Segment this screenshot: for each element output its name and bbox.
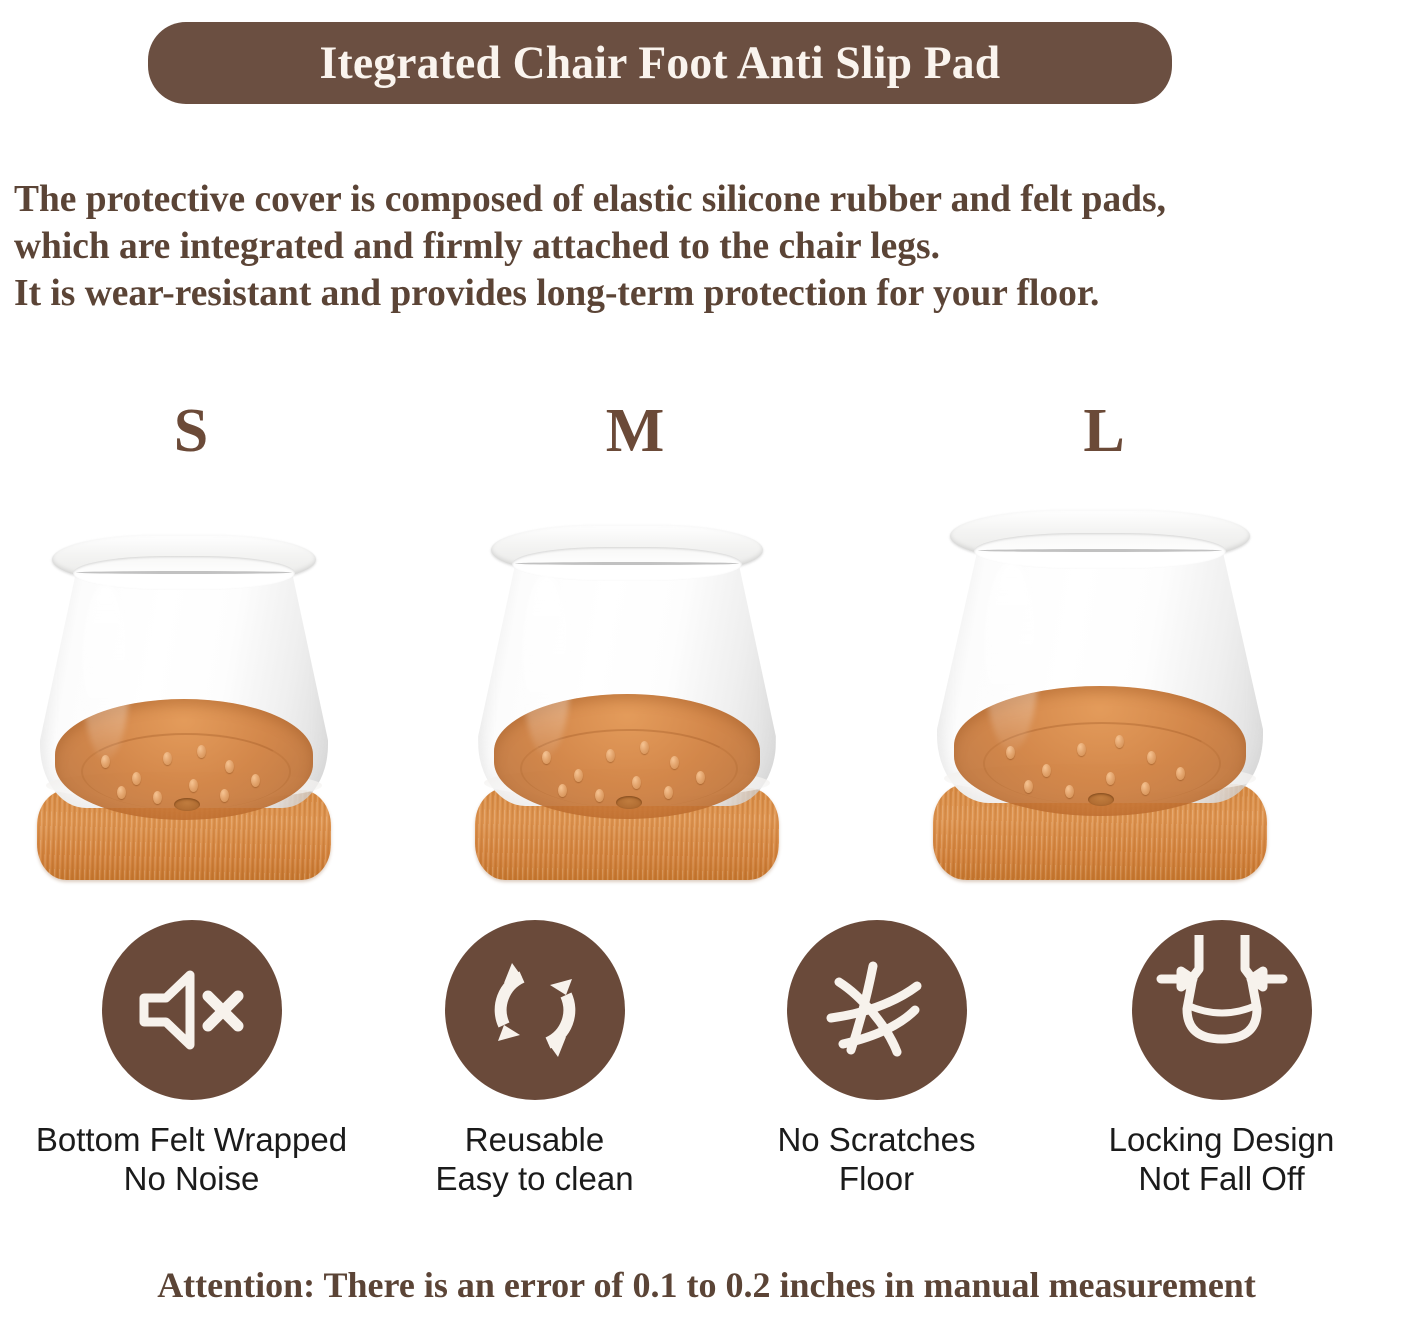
- center-vent-hole: [174, 798, 200, 811]
- feature-label-line-1: Reusable: [465, 1121, 604, 1158]
- silicone-cover: [34, 535, 334, 839]
- product-description: The protective cover is composed of elas…: [14, 176, 1406, 317]
- feature-label: No Scratches Floor: [700, 1120, 1053, 1198]
- feature-icon-circle: [102, 920, 282, 1100]
- feature-label: Locking Design Not Fall Off: [1045, 1120, 1398, 1198]
- size-label-row: S M L: [0, 400, 1413, 470]
- attention-note: Attention: There is an error of 0.1 to 0…: [0, 1264, 1413, 1306]
- feature-label: Bottom Felt Wrapped No Noise: [15, 1120, 368, 1198]
- title-banner: Itegrated Chair Foot Anti Slip Pad: [148, 22, 1172, 104]
- product-image-large: [930, 510, 1270, 880]
- feature-icon-circle: [787, 920, 967, 1100]
- feature-label-line-2: Not Fall Off: [1045, 1159, 1398, 1198]
- feature-reusable: Reusable Easy to clean: [358, 920, 711, 1198]
- product-image-row: [0, 485, 1413, 880]
- feature-label-line-2: Floor: [700, 1159, 1053, 1198]
- feature-no-scratches: No Scratches Floor: [700, 920, 1053, 1198]
- feature-label-line-2: Easy to clean: [358, 1159, 711, 1198]
- page-title: Itegrated Chair Foot Anti Slip Pad: [320, 36, 1001, 90]
- chair-leg-grip-icon: [1147, 935, 1297, 1085]
- feature-label-line-2: No Noise: [15, 1159, 368, 1198]
- center-vent-hole: [616, 796, 642, 809]
- feature-icon-circle: [1132, 920, 1312, 1100]
- size-label-large: L: [1059, 400, 1149, 462]
- description-line-3: It is wear-resistant and provides long-t…: [14, 270, 1385, 317]
- feature-bottom-felt-wrapped: Bottom Felt Wrapped No Noise: [15, 920, 368, 1198]
- scratch-marks-icon: [821, 956, 933, 1064]
- feature-label-line-1: No Scratches: [777, 1121, 975, 1158]
- highlight-gloss: [984, 562, 1038, 751]
- recycle-loop-icon: [480, 955, 590, 1065]
- product-image-small: [34, 535, 334, 880]
- feature-icon-circle: [445, 920, 625, 1100]
- feature-row: Bottom Felt Wrapped No Noise Reusable Ea…: [0, 920, 1413, 1220]
- center-vent-hole: [1088, 793, 1114, 806]
- size-label-medium: M: [590, 400, 680, 462]
- description-line-1: The protective cover is composed of elas…: [14, 176, 1385, 223]
- feature-label-line-1: Locking Design: [1109, 1121, 1335, 1158]
- highlight-gloss: [82, 584, 130, 760]
- size-label-small: S: [146, 400, 236, 462]
- highlight-gloss: [522, 575, 572, 756]
- feature-label-line-1: Bottom Felt Wrapped: [36, 1121, 347, 1158]
- description-line-2: which are integrated and firmly attached…: [14, 223, 1385, 270]
- muted-speaker-icon: [134, 962, 250, 1058]
- feature-locking-design: Locking Design Not Fall Off: [1045, 920, 1398, 1198]
- feature-label: Reusable Easy to clean: [358, 1120, 711, 1198]
- silicone-cover: [472, 525, 782, 837]
- silicone-cover: [930, 510, 1270, 836]
- product-image-medium: [472, 525, 782, 880]
